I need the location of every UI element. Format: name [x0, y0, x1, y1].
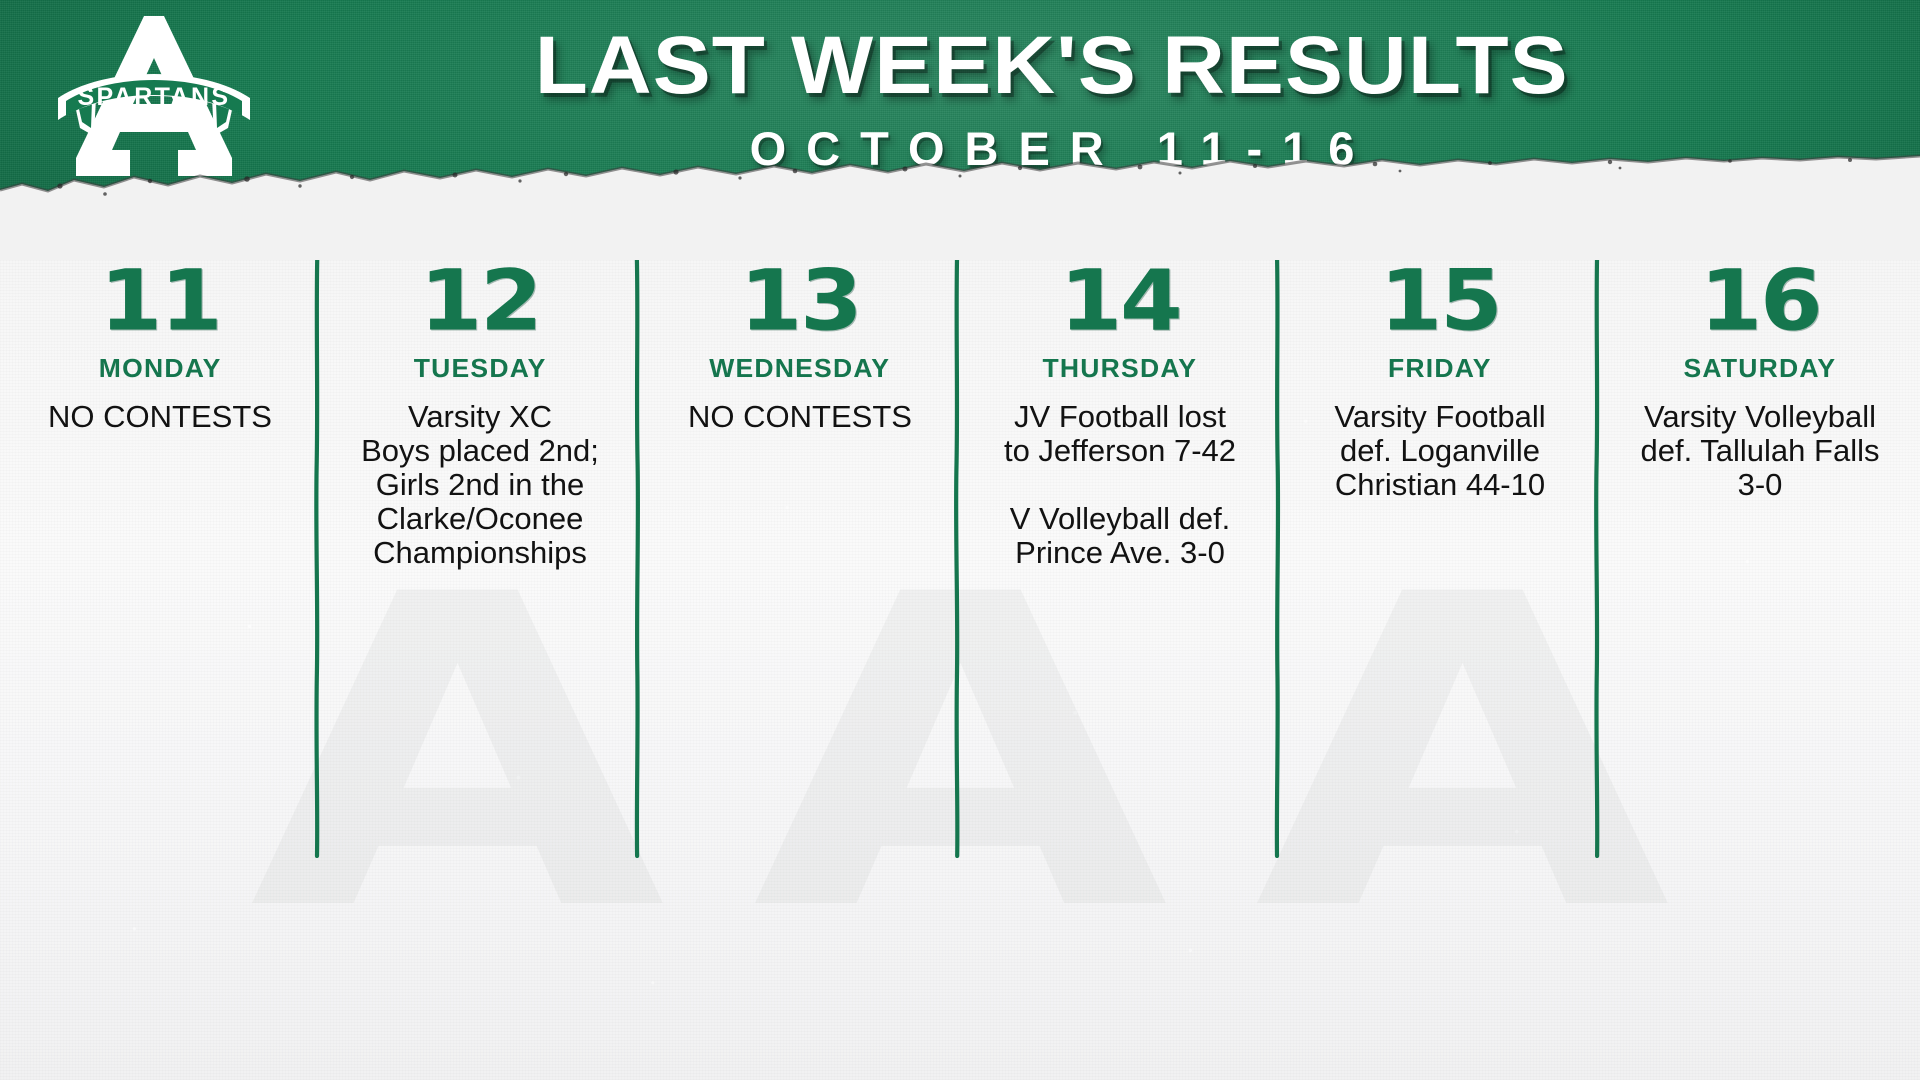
day-entries: NO CONTESTS: [654, 400, 946, 434]
day-entries: JV Football lost to Jefferson 7-42 V Vol…: [974, 400, 1266, 570]
page-title: LAST WEEK'S RESULTS: [535, 20, 1569, 112]
result-entry: V Volleyball def. Prince Ave. 3-0: [974, 502, 1266, 570]
logo-wordmark: SPARTANS: [77, 83, 230, 111]
result-entry: Varsity XC Boys placed 2nd; Girls 2nd in…: [334, 400, 626, 570]
day-column-thursday: 14 THURSDAY JV Football lost to Jefferso…: [960, 258, 1280, 1080]
day-column-tuesday: 12 TUESDAY Varsity XC Boys placed 2nd; G…: [320, 258, 640, 1080]
day-number: 15: [1379, 261, 1500, 343]
day-name: WEDNESDAY: [710, 353, 891, 383]
results-poster: A A A SPARTANS LAST WEEK'S RESULTS OCTOB…: [0, 0, 1920, 1080]
day-entries: Varsity Football def. Loganville Christi…: [1294, 400, 1586, 502]
result-entry: NO CONTESTS: [14, 400, 306, 434]
day-name: FRIDAY: [1388, 353, 1492, 383]
result-entry: Varsity Volleyball def. Tallulah Falls 3…: [1614, 400, 1906, 502]
day-column-saturday: 16 SATURDAY Varsity Volleyball def. Tall…: [1600, 258, 1920, 1080]
day-name: TUESDAY: [414, 353, 547, 383]
day-entries: Varsity XC Boys placed 2nd; Girls 2nd in…: [334, 400, 626, 570]
result-entry: NO CONTESTS: [654, 400, 946, 434]
day-column-wednesday: 13 WEDNESDAY NO CONTESTS: [640, 258, 960, 1080]
result-entry: Varsity Football def. Loganville Christi…: [1294, 400, 1586, 502]
torn-paper-edge: [0, 150, 1920, 260]
day-column-friday: 15 FRIDAY Varsity Football def. Loganvil…: [1280, 258, 1600, 1080]
day-entries: NO CONTESTS: [14, 400, 306, 434]
days-grid: 11 MONDAY NO CONTESTS 12 TUESDAY Varsity…: [0, 258, 1920, 1080]
result-entry: JV Football lost to Jefferson 7-42: [974, 400, 1266, 468]
day-name: SATURDAY: [1684, 353, 1837, 383]
day-number: 11: [99, 261, 220, 343]
day-number: 14: [1059, 261, 1180, 343]
day-name: MONDAY: [99, 353, 222, 383]
day-entries: Varsity Volleyball def. Tallulah Falls 3…: [1614, 400, 1906, 502]
day-number: 13: [739, 261, 860, 343]
day-name: THURSDAY: [1043, 353, 1198, 383]
day-number: 16: [1699, 261, 1820, 343]
day-column-monday: 11 MONDAY NO CONTESTS: [0, 258, 320, 1080]
day-number: 12: [419, 261, 540, 343]
